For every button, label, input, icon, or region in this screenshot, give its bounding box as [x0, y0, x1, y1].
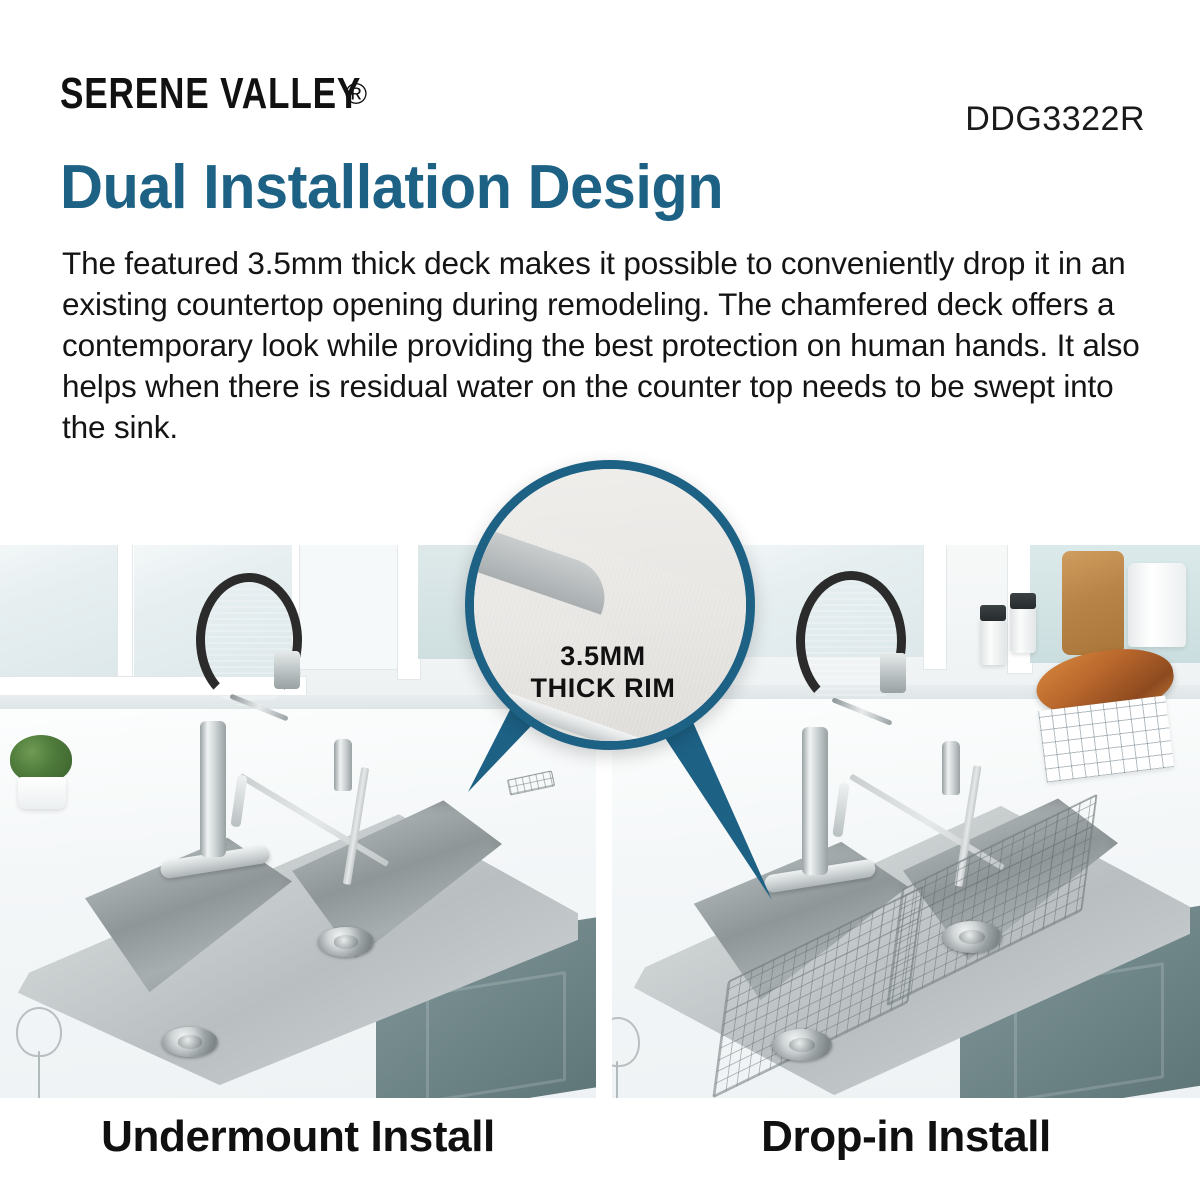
photo-comparison-row — [0, 545, 1200, 1098]
whisk-handle — [616, 1061, 618, 1098]
registered-trademark-icon: ® — [345, 80, 367, 110]
faucet-spray-head — [274, 651, 300, 689]
wall-panel — [300, 545, 410, 669]
description-paragraph: The featured 3.5mm thick deck makes it p… — [62, 243, 1152, 448]
wall-backsplash — [418, 545, 596, 659]
brand-logo: SERENE VALLEY — [60, 72, 361, 116]
canister — [1128, 563, 1186, 647]
infographic-page: SERENE VALLEY ® DDG3322R Dual Installati… — [0, 0, 1200, 1200]
whisk-head — [16, 1007, 62, 1057]
pepper-shaker-cap — [1010, 593, 1036, 609]
counter-backsplash-edge — [0, 695, 596, 709]
caption-undermount: Undermount Install — [0, 1112, 596, 1162]
window-mullion — [118, 545, 132, 685]
photo-right-dropin — [612, 545, 1200, 1098]
model-number: DDG3322R — [965, 100, 1145, 139]
sink-drain-left — [772, 1029, 832, 1061]
whisk-handle — [38, 1051, 40, 1098]
wall-corner — [398, 545, 420, 679]
faucet-column — [200, 721, 226, 857]
sink-drain-right — [942, 921, 1002, 953]
faucet-spray-head — [880, 653, 906, 693]
salt-shaker-cap — [980, 605, 1006, 621]
faucet-column — [802, 727, 828, 875]
window-glass — [0, 545, 126, 679]
photo-left-undermount — [0, 545, 596, 1098]
page-title: Dual Installation Design — [60, 155, 723, 220]
sink-drain-left — [162, 1027, 218, 1057]
cutting-board — [1062, 551, 1124, 655]
caption-dropin: Drop-in Install — [612, 1112, 1200, 1162]
pepper-shaker — [1010, 605, 1036, 653]
salt-shaker — [980, 617, 1006, 665]
window-frame — [924, 545, 946, 669]
potted-plant-pot — [18, 777, 66, 809]
soap-dispenser — [942, 741, 960, 795]
soap-dispenser — [334, 739, 352, 791]
window-frame — [696, 545, 714, 667]
sink-drain-right — [318, 927, 374, 957]
potted-plant-foliage — [10, 735, 72, 783]
